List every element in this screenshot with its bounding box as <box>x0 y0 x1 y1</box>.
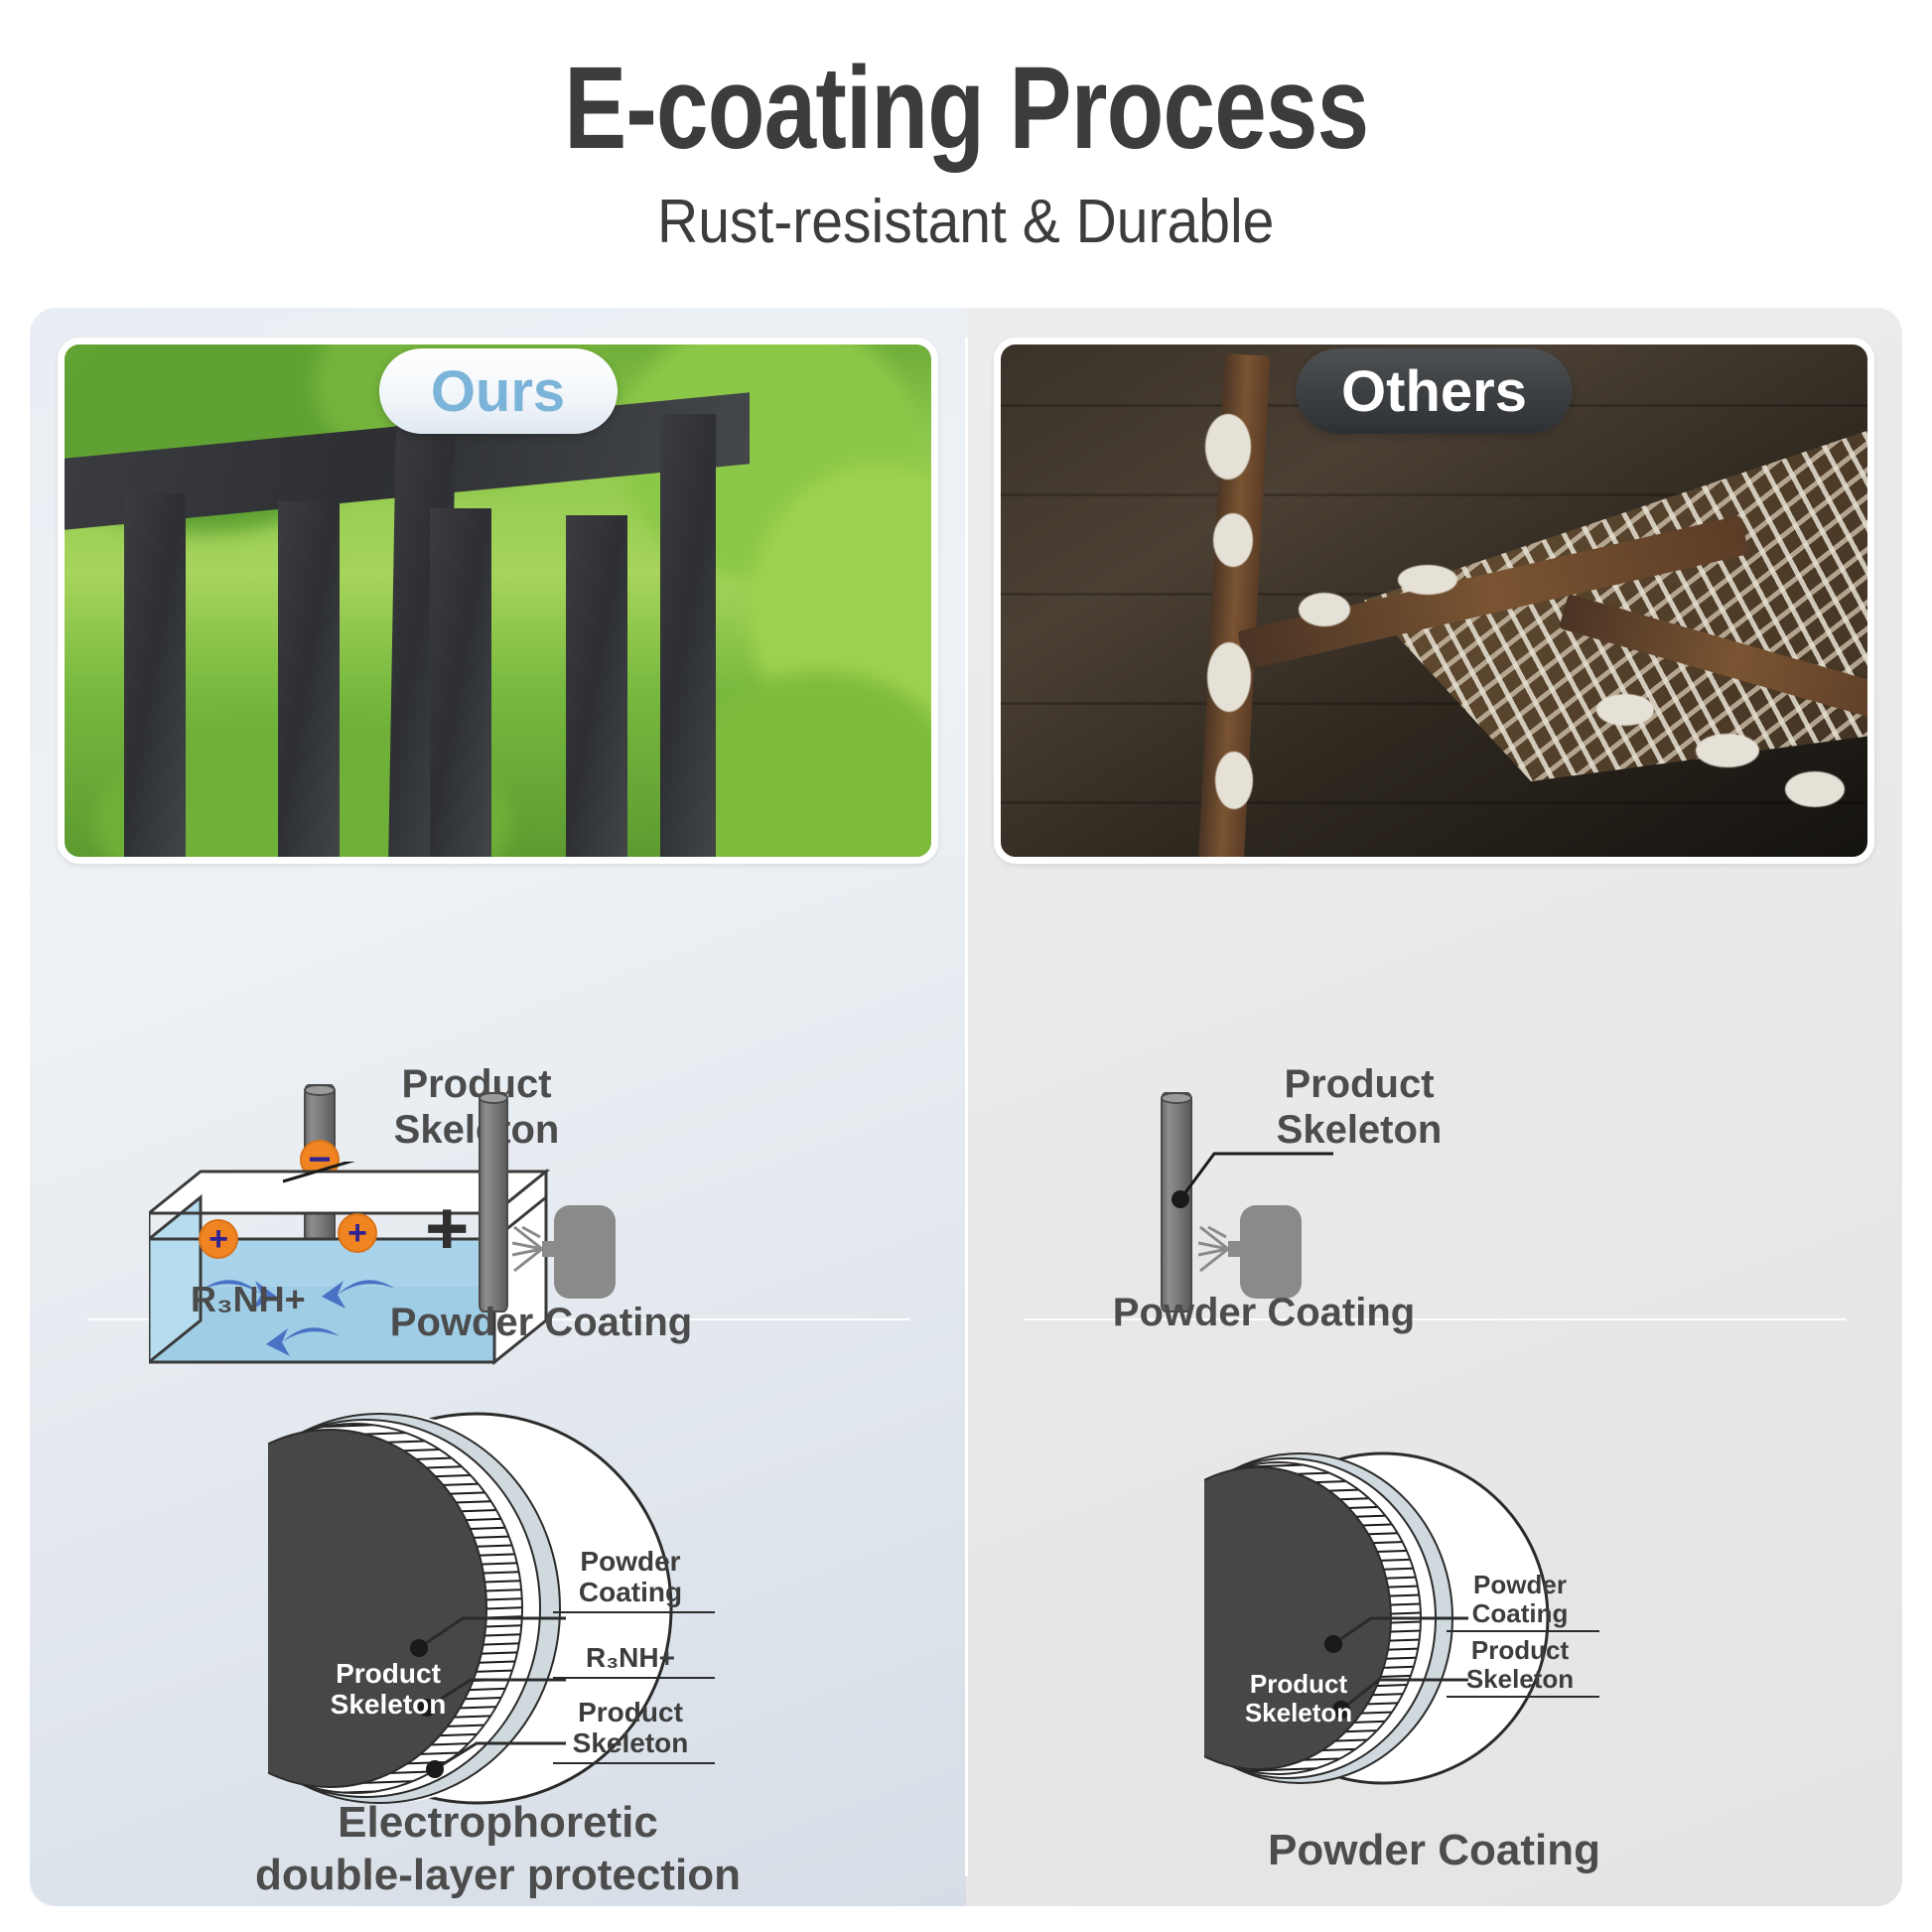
label-product-skeleton-ours: Product Skeleton <box>328 1062 625 1153</box>
xsec-core-label-ours: Product Skeleton <box>294 1658 483 1721</box>
xsec-callout-powder-ours: Powder Coating <box>546 1547 715 1608</box>
xsec-callout-skeleton-ours: Product Skeleton <box>546 1698 715 1759</box>
label-powder-coating-others: Powder Coating <box>1045 1291 1482 1336</box>
ion-plus-right: + <box>338 1213 377 1253</box>
spray-gun-icon <box>512 1197 621 1307</box>
panel-others: Others Product Skeleton <box>966 308 1902 1906</box>
plus-connector-icon: + <box>425 1191 469 1267</box>
xsec-callout-r3nh-ours: R₃NH+ <box>546 1643 715 1674</box>
solution-formula-label: R₃NH+ <box>191 1279 306 1320</box>
caption-others: Powder Coating <box>966 1825 1902 1877</box>
powder-stage-rod <box>479 1092 508 1312</box>
xsec-callout-powder-others: Powder Coating <box>1441 1571 1599 1627</box>
panel-divider <box>965 338 968 1876</box>
comparison-panels: Ours Product Skeleton − <box>30 308 1902 1906</box>
caption-ours: Electrophoretic double-layer protection <box>30 1797 966 1902</box>
label-powder-coating-ours: Powder Coating <box>357 1301 725 1346</box>
badge-others: Others <box>1296 348 1573 434</box>
page-title: E-coating Process <box>564 48 1368 171</box>
xsec-core-label-others: Product Skeleton <box>1204 1670 1393 1727</box>
badge-ours: Ours <box>379 348 618 434</box>
xsec-callout-skeleton-others: Product Skeleton <box>1441 1636 1599 1693</box>
ion-plus-left: + <box>199 1219 238 1259</box>
photo-ours: Ours <box>58 338 938 864</box>
header: E-coating Process Rust-resistant & Durab… <box>0 0 1932 298</box>
photo-others: Others <box>994 338 1874 864</box>
panel-ours: Ours Product Skeleton − <box>30 308 966 1906</box>
page-subtitle: Rust-resistant & Durable <box>657 187 1274 257</box>
